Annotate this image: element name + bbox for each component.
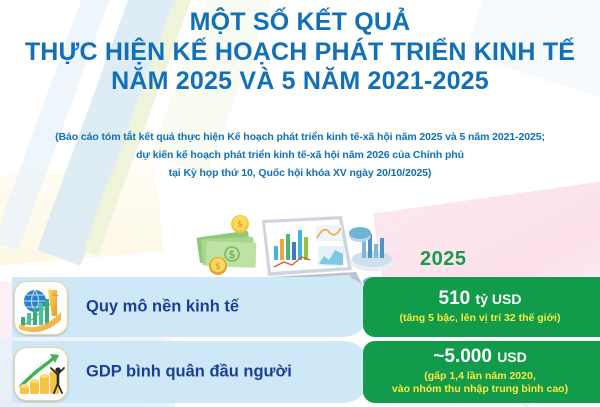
- banknotes-icon: $: [196, 231, 256, 268]
- metric-label: GDP bình quân đầu người: [86, 363, 292, 382]
- metric-value: 510 tỷ USD: [439, 289, 522, 310]
- subtitle-line-3: tại Kỳ họp thứ 10, Quốc hội khóa XV ngày…: [0, 164, 600, 182]
- metric-value-box: 510 tỷ USD (tăng 5 bậc, lên vị trí 32 th…: [363, 277, 600, 337]
- page-title-line-2: THỰC HIỆN KẾ HOẠCH PHÁT TRIỂN KINH TẾ: [0, 38, 600, 68]
- metric-value-unit: USD: [497, 349, 527, 365]
- metric-value-number: 510: [439, 288, 471, 309]
- metric-label: Quy mô nền kinh tế: [86, 298, 239, 317]
- metric-value-unit: tỷ USD: [476, 291, 522, 307]
- subtitle-line-1: (Báo cáo tóm tắt kết quả thực hiện Kế ho…: [0, 128, 600, 146]
- globe-bar-chart-arrow-icon: [14, 281, 68, 335]
- donut-chart-icon: [349, 227, 371, 242]
- infographic-root: VNA MỘT SỐ KẾT QUẢ THỰC HIỆN KẾ HOẠCH PH…: [0, 0, 600, 407]
- page-title-line-1: MỘT SỐ KẾT QUẢ: [0, 8, 600, 38]
- svg-text:$: $: [237, 220, 243, 230]
- page-title-line-3: NĂM 2025 VÀ 5 NĂM 2021-2025: [0, 67, 600, 97]
- metric-value-notes: (gấp 1,4 lần năm 2020, vào nhóm thu nhập…: [392, 370, 568, 397]
- metric-value-box: ~5.000 USD (gấp 1,4 lần năm 2020, vào nh…: [363, 341, 600, 403]
- metric-value-number: ~5.000: [433, 346, 492, 367]
- metric-note-line-2: vào nhóm thu nhập trung bình cao): [392, 383, 568, 397]
- coin-stack-growth-person-icon: [14, 347, 68, 401]
- page-subtitle: (Báo cáo tóm tắt kết quả thực hiện Kế ho…: [0, 128, 600, 182]
- metric-note-line-1: (gấp 1,4 lần năm 2020,: [392, 370, 568, 384]
- metric-note: (tăng 5 bậc, lên vị trí 32 thế giới): [400, 312, 561, 326]
- header: MỘT SỐ KẾT QUẢ THỰC HIỆN KẾ HOẠCH PHÁT T…: [0, 8, 600, 97]
- metric-value: ~5.000 USD: [433, 347, 527, 368]
- metric-value-notes: (tăng 5 bậc, lên vị trí 32 thế giới): [400, 312, 561, 326]
- svg-text:$: $: [229, 248, 236, 261]
- year-column-label: 2025: [420, 248, 467, 271]
- subtitle-line-2: dự kiến kế hoạch phát triển kinh tế-xã h…: [0, 146, 600, 164]
- svg-text:$: $: [215, 262, 221, 272]
